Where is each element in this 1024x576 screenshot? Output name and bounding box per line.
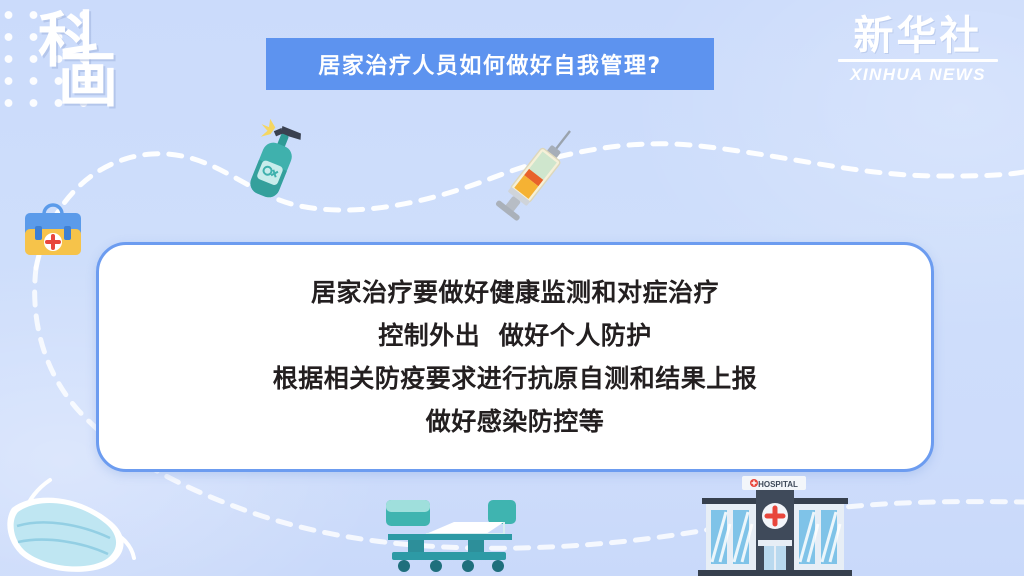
title-banner: 居家治疗人员如何做好自我管理?: [266, 38, 714, 90]
content-line-2: 控制外出 做好个人防护: [378, 314, 651, 357]
hospital-building-icon: HOSPITAL: [686, 470, 862, 576]
hospital-bed-icon: [378, 490, 518, 576]
poster-canvas: 科 画 新华社 XINHUA NEWS 居家治疗人员如何做好自我管理? 居家治疗…: [0, 0, 1024, 576]
surgical-face-mask-icon: [0, 474, 140, 576]
content-line-4: 做好感染防控等: [426, 400, 605, 443]
main-content-card: 居家治疗要做好健康监测和对症治疗 控制外出 做好个人防护 根据相关防疫要求进行抗…: [96, 242, 934, 472]
xinhua-logo-divider: [838, 59, 998, 62]
xinhua-logo-en: XINHUA NEWS: [836, 65, 1000, 84]
content-line-3: 根据相关防疫要求进行抗原自测和结果上报: [273, 357, 758, 400]
kehua-logo-char-2: 画: [58, 58, 150, 104]
kehua-logo: 科 画: [28, 18, 150, 114]
xinhua-logo-cn: 新华社: [836, 14, 1000, 58]
hospital-sign-text: HOSPITAL: [758, 480, 798, 489]
page-title: 居家治疗人员如何做好自我管理?: [318, 48, 661, 80]
medical-kit-bag-icon: [18, 198, 88, 260]
syringe-icon: [486, 118, 590, 226]
content-line-1: 居家治疗要做好健康监测和对症治疗: [311, 271, 719, 314]
xinhua-logo: 新华社 XINHUA NEWS: [836, 14, 1000, 84]
disinfectant-spray-bottle-icon: [232, 118, 308, 206]
